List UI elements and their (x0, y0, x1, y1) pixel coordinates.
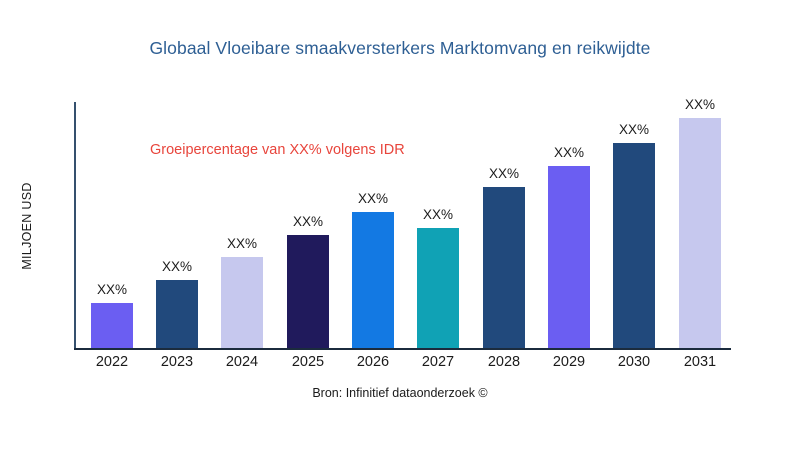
bar-rect[interactable] (417, 228, 459, 348)
x-axis-tick-label: 2024 (210, 354, 274, 370)
bar-rect[interactable] (287, 235, 329, 348)
x-axis-tick-label: 2030 (602, 354, 666, 370)
bar-rect[interactable] (91, 303, 133, 348)
bar-value-label: XX% (276, 215, 340, 236)
x-axis-tick-label: 2031 (668, 354, 732, 370)
x-axis-tick-label: 2028 (472, 354, 536, 370)
bar-group[interactable]: XX% (668, 98, 732, 349)
bar-value-label: XX% (341, 192, 405, 213)
bar-value-label: XX% (145, 260, 209, 281)
bar-group[interactable]: XX% (276, 215, 340, 349)
bar-group[interactable]: XX% (537, 146, 601, 349)
x-axis-tick-label: 2029 (537, 354, 601, 370)
x-axis-tick-label: 2025 (276, 354, 340, 370)
bar-value-label: XX% (668, 98, 732, 119)
plot-area: XX%2022XX%2023XX%2024XX%2025XX%2026XX%20… (0, 0, 800, 450)
bar-rect[interactable] (613, 143, 655, 348)
bar-value-label: XX% (537, 146, 601, 167)
bar-rect[interactable] (548, 166, 590, 348)
bar-group[interactable]: XX% (210, 237, 274, 349)
x-axis-tick-label: 2022 (80, 354, 144, 370)
bar-rect[interactable] (679, 118, 721, 348)
x-axis-tick-label: 2026 (341, 354, 405, 370)
bar-rect[interactable] (483, 187, 525, 348)
x-axis-tick-label: 2027 (406, 354, 470, 370)
bar-rect[interactable] (156, 280, 198, 348)
bar-rect[interactable] (352, 212, 394, 348)
bar-group[interactable]: XX% (602, 123, 666, 349)
bar-value-label: XX% (80, 283, 144, 304)
x-axis-tick-label: 2023 (145, 354, 209, 370)
bar-rect[interactable] (221, 257, 263, 348)
bar-value-label: XX% (210, 237, 274, 258)
bar-group[interactable]: XX% (341, 192, 405, 349)
bar-group[interactable]: XX% (406, 208, 470, 349)
bar-group[interactable]: XX% (80, 283, 144, 349)
chart-container: Globaal Vloeibare smaakversterkers Markt… (0, 0, 800, 450)
bar-value-label: XX% (472, 167, 536, 188)
bar-value-label: XX% (602, 123, 666, 144)
bar-value-label: XX% (406, 208, 470, 229)
source-note: Bron: Infinitief dataonderzoek © (0, 386, 800, 400)
bar-group[interactable]: XX% (472, 167, 536, 349)
bar-group[interactable]: XX% (145, 260, 209, 349)
